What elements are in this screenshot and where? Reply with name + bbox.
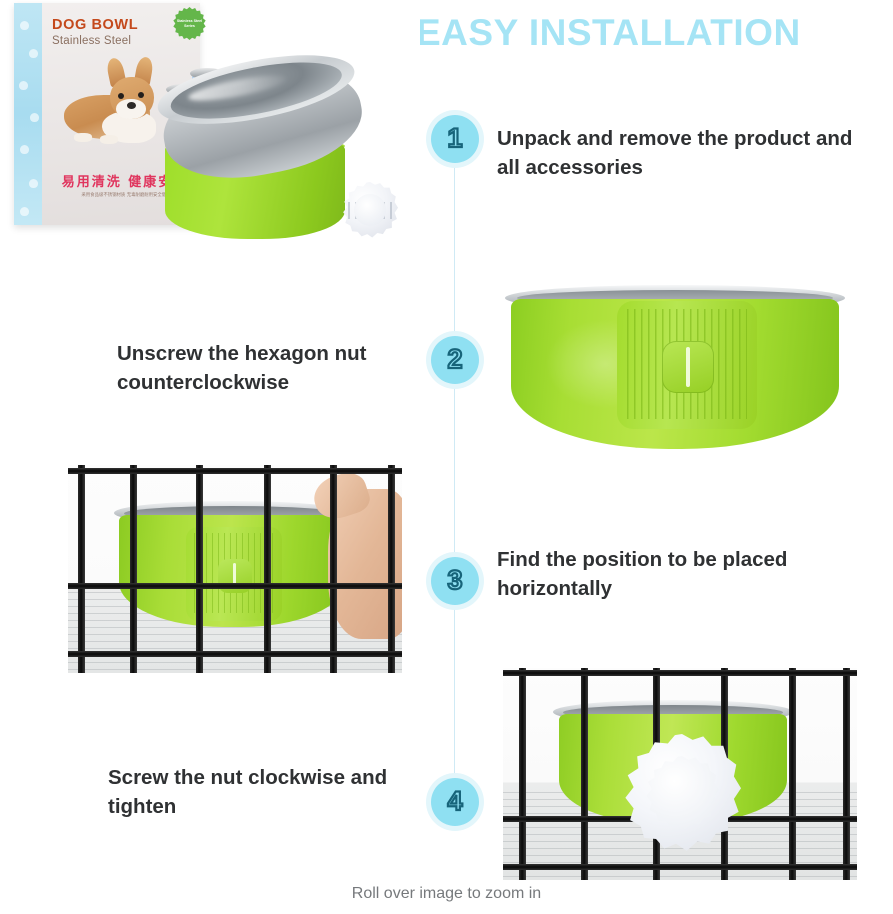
step-connector-line-3-4 [454, 603, 455, 780]
step-connector-line-1-2 [454, 160, 455, 340]
step-text-4: Screw the nut clockwise and tighten [108, 763, 438, 821]
corgi-dog-illustration [60, 55, 172, 149]
step-marker-2[interactable]: 2 [431, 336, 479, 384]
stainless-steel-series-badge: Stainless Steel Series [173, 7, 206, 40]
zoom-hint-caption: Roll over image to zoom in [0, 885, 893, 903]
green-bowl-with-clip [505, 285, 845, 455]
step-marker-3[interactable]: 3 [431, 557, 479, 605]
step-connector-line-2-3 [454, 382, 455, 560]
bowl-with-nut-product-shot [160, 52, 410, 252]
step-number-2: 2 [447, 346, 462, 375]
page-title: EASY INSTALLATION [416, 13, 886, 54]
product-box-and-bowl-photo: DOG BOWL Stainless Steel Stainless Steel… [0, 0, 420, 258]
green-bowl-front-photo [497, 275, 853, 465]
step-text-1: Unpack and remove the product and all ac… [497, 124, 872, 182]
step-text-3: Find the position to be placed horizonta… [497, 545, 872, 603]
ribbed-mounting-bracket [617, 301, 757, 429]
bracket-knob [662, 341, 714, 393]
installation-infographic: EASY INSTALLATION DOG BOWL Stainless Ste… [0, 0, 893, 914]
step-number-3: 3 [447, 567, 462, 596]
box-subtitle: Stainless Steel [52, 35, 131, 47]
nut-tightened-on-cage-photo [503, 668, 857, 880]
step-number-4: 4 [447, 788, 462, 817]
hand-positioning-bowl-on-cage-photo [68, 465, 402, 673]
step-marker-1[interactable]: 1 [431, 115, 479, 163]
step-number-1: 1 [447, 125, 462, 154]
box-title: DOG BOWL [52, 17, 138, 33]
step-text-2: Unscrew the hexagon nut counterclockwise [117, 339, 437, 397]
white-hexagon-nut [342, 182, 398, 238]
box-side-panel [14, 3, 42, 225]
step-marker-4[interactable]: 4 [431, 778, 479, 826]
